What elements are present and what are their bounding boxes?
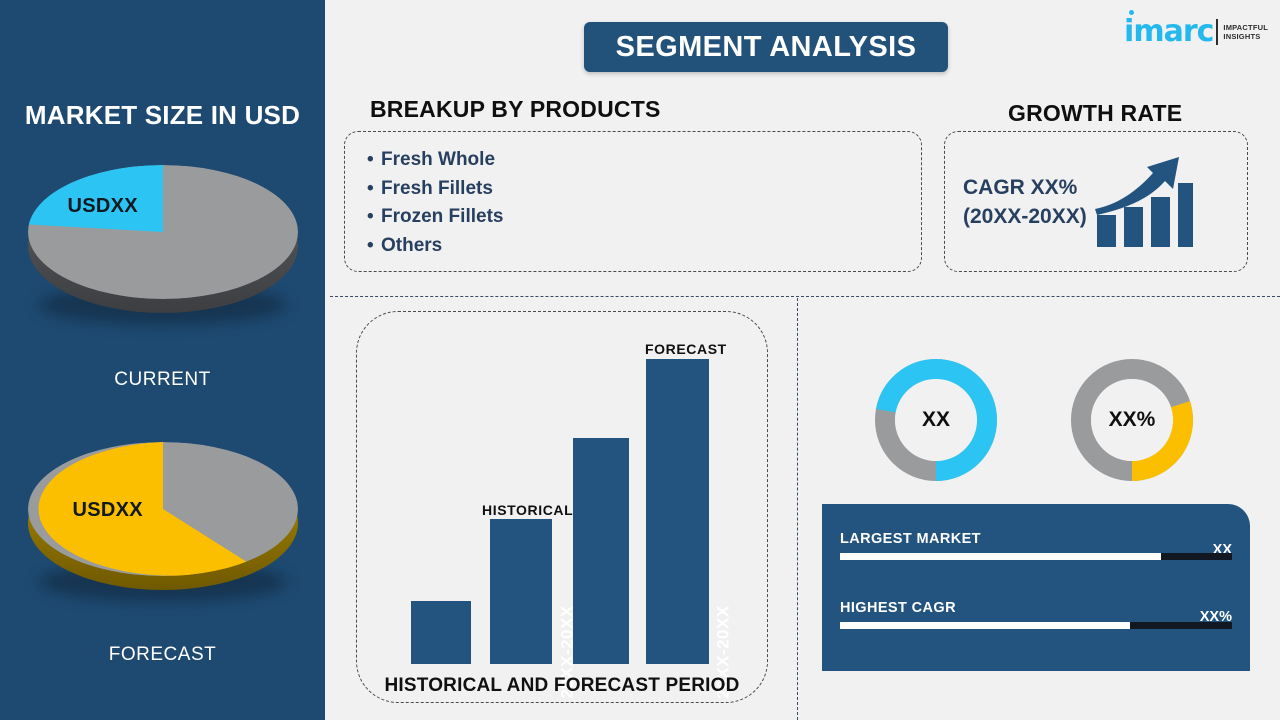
products-box: •Fresh Whole •Fresh Fillets •Frozen Fill… [344, 131, 922, 272]
sidebar-market-size: MARKET SIZE IN USD USDXX CURRENT [0, 0, 325, 720]
pie-current: USDXX [28, 165, 298, 325]
pie-current-svg [28, 165, 298, 299]
pie-current-top [28, 165, 298, 299]
infographic-root: MARKET SIZE IN USD USDXX CURRENT [0, 0, 1280, 720]
pie-forecast-top [28, 442, 298, 576]
donut-primary-value: XX [922, 408, 950, 432]
stats-panel: LARGEST MARKET XX HIGHEST CAGR XX% [822, 504, 1250, 671]
header-banner: SEGMENT ANALYSIS [584, 22, 948, 72]
product-item: •Others [367, 232, 921, 261]
bar-4-value-label: 20XX-20XX [677, 642, 770, 662]
pie-current-label: CURRENT [0, 369, 325, 391]
growth-arrow-bars-icon [1091, 147, 1195, 256]
bar-chart-box: HISTORICAL FORECAST 20XX-20XX 20XX-20XX [356, 311, 768, 703]
bullet-icon: • [367, 175, 381, 204]
bullet-icon: • [367, 146, 381, 175]
stat-fill [840, 622, 1130, 629]
imarc-logo: imarc IMPACTFUL INSIGHTS [1124, 12, 1268, 52]
stat-row-highest-cagr: HIGHEST CAGR XX% [840, 599, 1232, 629]
page-title: SEGMENT ANALYSIS [616, 31, 917, 64]
product-label: Fresh Whole [381, 149, 495, 170]
logo-text: imarc [1124, 14, 1213, 49]
bullet-icon: • [367, 232, 381, 261]
logo-divider [1216, 19, 1218, 45]
growth-period-line: (20XX-20XX) [963, 202, 1087, 231]
donut-chart-primary: XX [875, 359, 997, 481]
pie-forecast-label: FORECAST [0, 644, 325, 666]
bullet-icon: • [367, 203, 381, 232]
growth-title: GROWTH RATE [1008, 100, 1182, 127]
growth-text: CAGR XX% (20XX-20XX) [963, 173, 1087, 231]
bar-annotation-historical: HISTORICAL [482, 502, 573, 518]
product-item: •Frozen Fillets [367, 203, 921, 232]
stat-fill [840, 553, 1161, 560]
bar-chart-caption: HISTORICAL AND FORECAST PERIOD [356, 675, 768, 697]
growth-cagr-line: CAGR XX% [963, 173, 1087, 202]
logo-tagline: IMPACTFUL INSIGHTS [1223, 23, 1268, 42]
sidebar-title: MARKET SIZE IN USD [0, 100, 325, 131]
pie-current-wrap: USDXX CURRENT [0, 165, 325, 391]
pie-current-slice-label: USDXX [68, 195, 138, 218]
logo-tagline-line2: INSIGHTS [1223, 32, 1268, 41]
product-item: •Fresh Fillets [367, 175, 921, 204]
bar-3 [573, 438, 629, 664]
product-label: Fresh Fillets [381, 178, 493, 199]
bar-annotation-forecast: FORECAST [645, 341, 727, 357]
stat-label: LARGEST MARKET [840, 531, 981, 547]
pie-forecast: USDXX [28, 442, 298, 602]
logo-tagline-line1: IMPACTFUL [1223, 23, 1268, 32]
product-label: Frozen Fillets [381, 206, 503, 227]
product-item: •Fresh Whole [367, 146, 921, 175]
pie-forecast-svg [28, 442, 298, 576]
donut-secondary-value: XX% [1109, 408, 1156, 432]
stat-track [840, 553, 1232, 560]
product-label: Others [381, 235, 442, 256]
growth-box: CAGR XX% (20XX-20XX) [944, 131, 1248, 272]
donut-secondary-center: XX% [1091, 379, 1173, 461]
bar-4 [646, 359, 709, 664]
vertical-divider [797, 298, 798, 720]
pie-forecast-slice-label: USDXX [73, 499, 143, 522]
pie-forecast-wrap: USDXX FORECAST [0, 442, 325, 666]
stat-label: HIGHEST CAGR [840, 600, 956, 616]
horizontal-divider [330, 296, 1280, 297]
stat-row-largest-market: LARGEST MARKET XX [840, 530, 1232, 560]
products-title: BREAKUP BY PRODUCTS [370, 96, 661, 123]
bar-1 [411, 601, 471, 664]
logo-wordmark: imarc [1124, 17, 1213, 47]
stat-track [840, 622, 1232, 629]
donut-chart-secondary: XX% [1071, 359, 1193, 481]
bar-2-value-label: 20XX-20XX [521, 642, 614, 662]
donut-primary-center: XX [895, 379, 977, 461]
